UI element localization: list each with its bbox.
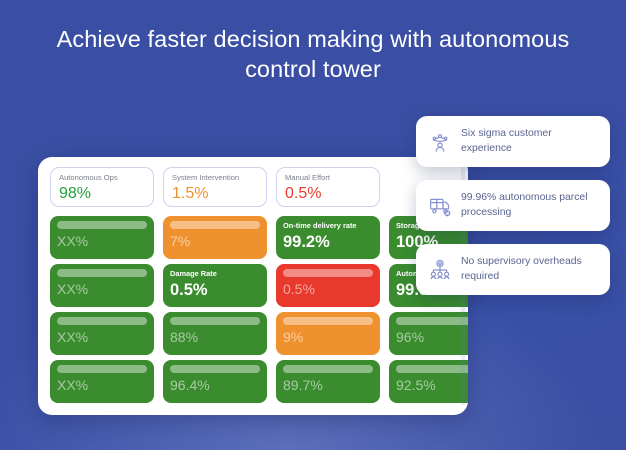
metric-tile[interactable]: 92.5% — [389, 360, 468, 403]
summary-card-value: 0.5% — [285, 184, 371, 204]
metric-tile-placeholder-bar — [57, 317, 147, 325]
metric-tile-value: 96.4% — [170, 377, 260, 394]
metric-tile[interactable]: 96.4% — [163, 360, 267, 403]
metric-tile-value: XX% — [57, 233, 147, 250]
metric-tile[interactable]: 7% — [163, 216, 267, 259]
metric-tile-value: 0.5% — [170, 280, 260, 301]
metric-tile-placeholder-bar — [283, 365, 373, 373]
metric-tile-value: 92.5% — [396, 377, 468, 394]
metric-tile-placeholder-bar — [396, 365, 468, 373]
org-hierarchy-icon — [428, 258, 452, 282]
summary-card-label: Autonomous Ops — [59, 173, 145, 183]
metric-tile[interactable]: XX% — [50, 216, 154, 259]
metric-tile-placeholder-bar — [57, 365, 147, 373]
metric-tile-value: 88% — [170, 329, 260, 346]
summary-card[interactable]: Manual Effort0.5% — [276, 167, 380, 207]
callout-card-parcel-processing[interactable]: 99.96% autonomous parcel processing — [416, 180, 610, 231]
metric-tile[interactable]: Damage Rate0.5% — [163, 264, 267, 307]
callout-label: 99.96% autonomous parcel processing — [461, 191, 598, 220]
dashboard-panel: Autonomous Ops98%System Intervention1.5%… — [38, 157, 468, 415]
metric-tile[interactable]: On-time delivery rate99.2% — [276, 216, 380, 259]
parcel-processing-icon — [428, 194, 452, 218]
summary-card-value: 98% — [59, 184, 145, 204]
metric-tile[interactable]: 96% — [389, 312, 468, 355]
metric-tile-label: Damage Rate — [170, 269, 260, 279]
metric-tile[interactable]: XX% — [50, 264, 154, 307]
metric-tile[interactable]: 0.5% — [276, 264, 380, 307]
page-title: Achieve faster decision making with auto… — [0, 24, 626, 84]
metric-tile-value: 96% — [396, 329, 468, 346]
callout-card-customer-experience[interactable]: Six sigma customer experience — [416, 116, 610, 167]
summary-card-row: Autonomous Ops98%System Intervention1.5%… — [50, 167, 456, 207]
summary-card-label: System Intervention — [172, 173, 258, 183]
metric-tile-placeholder-bar — [57, 269, 147, 277]
callout-card-no-supervisory-overheads[interactable]: No supervisory overheads required — [416, 244, 610, 295]
metric-tile-placeholder-bar — [283, 317, 373, 325]
metric-tile[interactable]: XX% — [50, 312, 154, 355]
metric-tile-value: 99.2% — [283, 232, 373, 253]
metric-tile-value: 7% — [170, 233, 260, 250]
summary-card[interactable]: System Intervention1.5% — [163, 167, 267, 207]
metric-tile[interactable]: 88% — [163, 312, 267, 355]
customer-experience-icon — [428, 130, 452, 154]
slide-canvas: Achieve faster decision making with auto… — [0, 0, 626, 450]
summary-card-value: 1.5% — [172, 184, 258, 204]
metric-tile-placeholder-bar — [170, 221, 260, 229]
metric-tile-placeholder-bar — [170, 317, 260, 325]
summary-card[interactable]: Autonomous Ops98% — [50, 167, 154, 207]
callout-label: Six sigma customer experience — [461, 127, 598, 156]
metric-tile-value: XX% — [57, 281, 147, 298]
callout-label: No supervisory overheads required — [461, 255, 598, 284]
metric-tile[interactable]: 89.7% — [276, 360, 380, 403]
metric-tile-label: On-time delivery rate — [283, 221, 373, 231]
metric-tile-value: XX% — [57, 329, 147, 346]
metric-tile-placeholder-bar — [170, 365, 260, 373]
metric-tile[interactable]: XX% — [50, 360, 154, 403]
metric-tile-value: 9% — [283, 329, 373, 346]
summary-card-label: Manual Effort — [285, 173, 371, 183]
metric-tile-value: XX% — [57, 377, 147, 394]
metric-tile-value: 0.5% — [283, 281, 373, 298]
metric-tile-placeholder-bar — [57, 221, 147, 229]
metric-tile[interactable]: 9% — [276, 312, 380, 355]
metric-tile-value: 89.7% — [283, 377, 373, 394]
metric-tile-placeholder-bar — [396, 317, 468, 325]
metric-tile-placeholder-bar — [283, 269, 373, 277]
metric-grid: XX%7%On-time delivery rate99.2%Storage U… — [50, 216, 456, 403]
